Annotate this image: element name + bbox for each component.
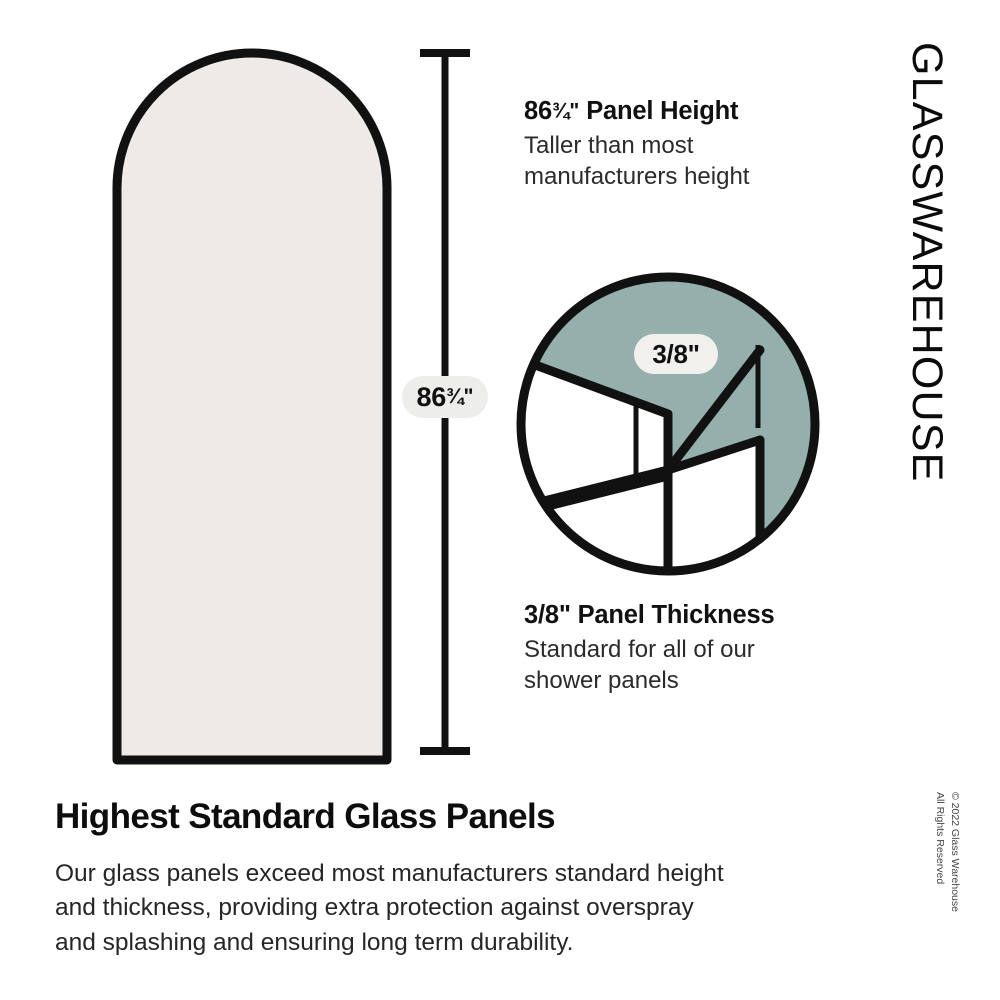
glass-panel-shape — [117, 53, 387, 760]
detail-circle-fill — [521, 277, 815, 571]
height-badge-number: 86 — [417, 382, 446, 413]
height-dimension-badge: 86¾" — [402, 376, 488, 418]
callout-panel-height: 86¾" Panel Height Taller than most manuf… — [524, 96, 854, 192]
callout-height-fraction: ¾" — [552, 99, 579, 122]
thickness-badge-label: 3/8" — [652, 339, 699, 370]
callout-height-body-line2: manufacturers height — [524, 161, 854, 192]
callout-height-rest: Panel Height — [579, 97, 738, 125]
summary-block: Highest Standard Glass Panels Our glass … — [55, 798, 865, 961]
copyright-notice-text: © 2022 Glass Warehouse All Rights Reserv… — [932, 792, 962, 912]
callout-panel-thickness-title: 3/8" Panel Thickness — [524, 600, 854, 630]
summary-heading: Highest Standard Glass Panels — [55, 798, 865, 837]
detail-circle-outline — [521, 277, 815, 571]
brand-wordmark: GLASSWAREHOUSE — [896, 42, 960, 602]
summary-line-1: Our glass panels exceed most manufacture… — [55, 857, 865, 892]
thickness-detail-circle — [500, 277, 815, 645]
callout-panel-height-title: 86¾" Panel Height — [524, 96, 854, 126]
copyright-line-2: All Rights Reserved — [932, 792, 947, 912]
copyright-line-1: © 2022 Glass Warehouse — [947, 792, 962, 912]
callout-height-body-line1: Taller than most — [524, 130, 854, 161]
callout-panel-height-body: Taller than most manufacturers height — [524, 130, 854, 192]
summary-line-3: and splashing and ensuring long term dur… — [55, 926, 865, 961]
summary-line-2: and thickness, providing extra protectio… — [55, 891, 865, 926]
thickness-dimension-badge: 3/8" — [634, 334, 718, 374]
callout-thickness-body-line1: Standard for all of our — [524, 634, 854, 665]
infographic-canvas: 86¾" 3/8" 86¾" Panel Height Taller than … — [0, 0, 1000, 1000]
callout-height-number: 86 — [524, 97, 552, 125]
callout-thickness-body-line2: shower panels — [524, 665, 854, 696]
summary-paragraph: Our glass panels exceed most manufacture… — [55, 857, 865, 961]
callout-panel-thickness: 3/8" Panel Thickness Standard for all of… — [524, 600, 854, 696]
copyright-notice: © 2022 Glass Warehouse All Rights Reserv… — [928, 792, 978, 972]
brand-wordmark-text: GLASSWAREHOUSE — [905, 42, 948, 483]
height-badge-fraction: ¾" — [446, 385, 474, 409]
callout-panel-thickness-body: Standard for all of our shower panels — [524, 634, 854, 696]
